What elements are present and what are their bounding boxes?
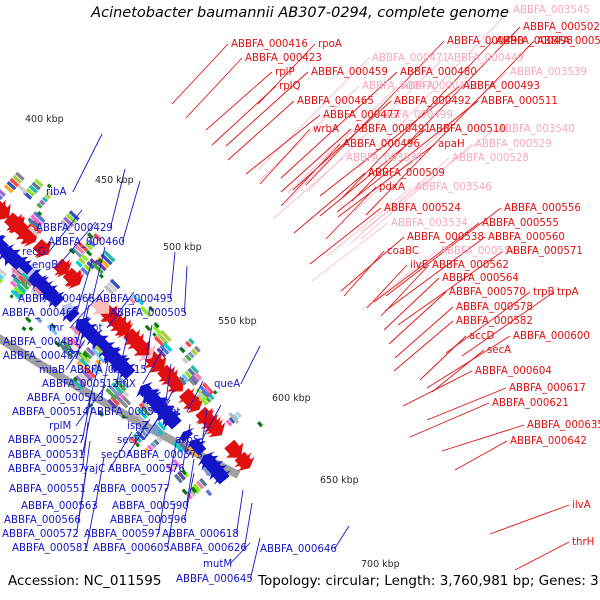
gene-label[interactable]: ABBFA_000481	[3, 337, 80, 348]
gene-label[interactable]: ABBFA_000471	[372, 53, 449, 64]
domain-box	[18, 185, 28, 195]
gene-label[interactable]: ABBFA_000460	[48, 237, 125, 248]
leader-line	[455, 441, 507, 470]
accession-text: Accession: NC_011595	[8, 573, 161, 589]
leader-line	[212, 86, 276, 145]
domain-box	[257, 421, 263, 427]
gene-label[interactable]: ABBFA_000512	[42, 379, 119, 390]
gene-label[interactable]: ABBFA_000505	[110, 308, 187, 319]
leader-line	[410, 403, 489, 437]
leader-line	[312, 223, 388, 281]
gene-label[interactable]: aspS	[175, 435, 199, 446]
scale-tick: 450 kbp	[95, 175, 134, 186]
gene-label[interactable]: hflX	[116, 379, 136, 390]
gene-label[interactable]: ABBFA_000600	[513, 331, 590, 342]
scale-tick: 400 kbp	[25, 114, 64, 125]
scale-tick-label: 700 kbp	[361, 559, 400, 570]
gene-label[interactable]: rplQ	[279, 81, 301, 92]
gene-label[interactable]: ABBFA_000465	[297, 96, 374, 107]
gene-label[interactable]: ABBFA_000537	[8, 464, 85, 475]
domain-box	[99, 274, 104, 279]
leader-line	[122, 181, 140, 242]
gene-label[interactable]: ABBFA_000493	[463, 81, 540, 92]
leader-line	[515, 542, 569, 570]
gene-label[interactable]: ABBFA_000577	[93, 484, 170, 495]
scale-tick: 650 kbp	[320, 475, 359, 486]
gene-label[interactable]: ABBFA_000560	[488, 232, 565, 243]
gene-label[interactable]: ABBFA_000477	[323, 110, 400, 121]
gene-label[interactable]: mutM	[203, 559, 232, 570]
scale-tick: 500 kbp	[163, 242, 202, 253]
gene-label[interactable]: ABBFA_000510	[429, 124, 506, 135]
gene-label[interactable]: ABBFA_000467	[2, 308, 79, 319]
gene-label[interactable]: ABBFA_000618	[162, 529, 239, 540]
gene-label[interactable]: ABBFA_000524	[384, 203, 461, 214]
gene-label[interactable]: accD	[469, 331, 494, 342]
gene-label[interactable]: ilvA	[572, 500, 591, 511]
gene-label[interactable]: ABBFA_003539	[510, 67, 587, 78]
leader-line	[294, 173, 365, 233]
gene-label[interactable]: ABBFA_000509	[368, 168, 445, 179]
gene-label[interactable]: ABBFA_000605	[93, 543, 170, 554]
gene-label[interactable]: ABBFA_000571	[506, 246, 583, 257]
gene-label[interactable]: rnr	[49, 323, 64, 334]
gene-label[interactable]: recG	[22, 247, 46, 258]
gene-label[interactable]: ABBFA_003540	[498, 124, 575, 135]
scale-tick-label: 550 kbp	[218, 316, 257, 327]
leader-line	[206, 72, 272, 130]
gene-label[interactable]: ABBFA_000491	[354, 124, 431, 135]
gene-label[interactable]: ABBFA_000590	[112, 501, 189, 512]
scale-tick: 600 kbp	[272, 393, 311, 404]
leader-line	[281, 144, 340, 206]
gene-label[interactable]: ABBFA_000564	[442, 273, 519, 284]
gene-label[interactable]: yajC	[83, 464, 105, 475]
gene-label[interactable]: ABBFA_003533	[346, 153, 423, 164]
scale-tick: 700 kbp	[361, 559, 400, 570]
leader-line	[367, 265, 407, 308]
gene-label[interactable]: ABBFA_000646	[260, 544, 337, 555]
gene-label[interactable]: rplP	[275, 67, 295, 78]
scale-tick-label: 450 kbp	[95, 175, 134, 186]
gene-label[interactable]: wrbA	[313, 124, 339, 135]
leader-line	[170, 252, 175, 299]
genome-diagram: 400 kbp450 kbp500 kbp550 kbp600 kbp650 k…	[0, 0, 600, 600]
gene-label[interactable]: ABBFA_000617	[509, 383, 586, 394]
gene-label[interactable]: ABBFA_000562	[432, 260, 509, 271]
scale-tick-label: 400 kbp	[25, 114, 64, 125]
gene-label[interactable]: ABBFA_000487	[3, 351, 80, 362]
gene-label[interactable]: apaH	[438, 139, 465, 150]
scale-tick-label: 650 kbp	[320, 475, 359, 486]
gene-label[interactable]: coaBC	[387, 246, 419, 257]
gene-label[interactable]: ABBFA_003545	[513, 5, 590, 16]
forward-gene-arrow	[224, 440, 243, 458]
gene-label[interactable]: thrH	[572, 537, 594, 548]
leader-line	[228, 101, 294, 160]
gene-label[interactable]: pdxA	[379, 182, 405, 193]
genome-stats-text: Topology: circular; Length: 3,760,981 bp…	[257, 573, 600, 589]
leader-line	[246, 115, 320, 174]
scale-tick: 550 kbp	[218, 316, 257, 327]
gene-label[interactable]: ABBFA_000466	[18, 294, 95, 305]
gene-label[interactable]: ABBFA_000555	[482, 218, 559, 229]
gene-label[interactable]: ABBFA_000502	[523, 22, 600, 33]
gene-label[interactable]: ABBFA_000576	[108, 464, 185, 475]
gene-label[interactable]: ABBFA_000514	[12, 407, 89, 418]
gene-label[interactable]: ABBFA_000570	[449, 287, 526, 298]
domain-box	[206, 489, 213, 496]
gene-label[interactable]: ispZ	[127, 421, 149, 432]
gene-label[interactable]: ABBFA_000551	[9, 484, 86, 495]
gene-label[interactable]: ABBFA_000572	[2, 529, 79, 540]
gene-label[interactable]: ABBFA_000581	[12, 543, 89, 554]
gene-label[interactable]: ABBFA_000582	[456, 316, 533, 327]
scale-tick-label: 500 kbp	[163, 242, 202, 253]
gene-label[interactable]: tgt	[166, 407, 180, 418]
gene-label[interactable]: ilvE	[410, 260, 428, 271]
gene-labels: 400 kbp450 kbp500 kbp550 kbp600 kbp650 k…	[2, 5, 600, 585]
gene-label[interactable]: ABBFA_000578	[456, 302, 533, 313]
gene-label[interactable]: rpoA	[318, 39, 342, 50]
gene-label[interactable]: ABBFA_000563	[21, 501, 98, 512]
page-title: Acinetobacter baumannii AB307-0294, comp…	[90, 5, 509, 21]
leader-line	[172, 44, 228, 104]
gene-label[interactable]: ABBFA_000511	[481, 96, 558, 107]
gene-label[interactable]: ABBFA_000621	[492, 398, 569, 409]
leader-line	[394, 321, 453, 371]
leader-line	[244, 503, 252, 548]
gene-label[interactable]: ribA	[46, 187, 66, 198]
gene-label[interactable]: ABBFA_000515	[70, 365, 147, 376]
gene-label[interactable]: ABBFA_000429	[36, 223, 113, 234]
gene-label[interactable]: ABBFA_000604	[475, 366, 552, 377]
gene-label[interactable]: engB	[32, 260, 58, 271]
leader-line	[186, 58, 242, 118]
gene-label[interactable]: ABBFA_000635	[527, 420, 600, 431]
gene-label[interactable]: ABBFA_000645	[176, 574, 253, 585]
gene-label[interactable]: ABBFA_003534	[391, 218, 468, 229]
gene-label[interactable]: trpB	[533, 287, 555, 298]
gene-label[interactable]: ABBFA_003546	[415, 182, 492, 193]
gene-label[interactable]: secD	[101, 450, 126, 461]
gene-label[interactable]: ABBFA_000596	[110, 515, 187, 526]
gene-label[interactable]: ABBFA_000416	[231, 39, 308, 50]
leader-line	[490, 505, 569, 534]
domain-box	[0, 187, 6, 197]
gene-label[interactable]: ABBFA_000626	[170, 543, 247, 554]
gene-label[interactable]: ABBFA_000531	[8, 450, 85, 461]
leader-line	[241, 346, 260, 384]
gene-label[interactable]: secF	[117, 435, 140, 446]
gene-label[interactable]: secA	[487, 345, 511, 356]
gene-label[interactable]: trpA	[557, 287, 579, 298]
genome-map-canvas: 400 kbp450 kbp500 kbp550 kbp600 kbp650 k…	[0, 0, 600, 600]
leader-line	[236, 490, 243, 534]
leader-line	[184, 473, 194, 520]
scale-tick-label: 600 kbp	[272, 393, 311, 404]
leader-line	[184, 266, 187, 313]
gene-label[interactable]: ABBFA_000642	[510, 436, 587, 447]
gene-label[interactable]: ABBFA_000513	[27, 393, 104, 404]
gene-label[interactable]: ABBFA_000459	[311, 67, 388, 78]
gene-label[interactable]: queA	[214, 379, 240, 390]
gene-label[interactable]: ABBFA_000566	[4, 515, 81, 526]
domain-box	[10, 294, 14, 298]
domain-box	[213, 390, 218, 395]
gene-label[interactable]: xpt	[86, 323, 103, 334]
gene-label[interactable]: ABBFA_000449	[447, 53, 524, 64]
leader-line	[344, 251, 384, 296]
gene-label[interactable]: ABBFA_000508	[537, 36, 600, 47]
gene-label[interactable]: ABBFA_000492	[394, 96, 471, 107]
leader-line	[389, 292, 446, 344]
gene-label[interactable]: miaB	[39, 365, 65, 376]
domain-box	[29, 326, 34, 331]
gene-label[interactable]: ABBFA_000556	[504, 203, 581, 214]
leader-line	[395, 307, 453, 358]
gene-label[interactable]: ABBFA_000529	[475, 139, 552, 150]
gene-label[interactable]: ABBFA_000528	[452, 153, 529, 164]
gene-label[interactable]: rplM	[49, 421, 71, 432]
gene-label[interactable]: ABBFA_000527	[8, 435, 85, 446]
domain-box	[145, 325, 152, 332]
gene-label[interactable]: ABBFA_000540	[90, 407, 167, 418]
gene-label[interactable]: ABBFA_000496	[343, 139, 420, 150]
leader-line	[403, 371, 472, 406]
gene-label[interactable]: ABBFA_000597	[84, 529, 161, 540]
gene-label[interactable]: ABBFA_000495	[96, 294, 173, 305]
gene-label[interactable]: ABBFA_000480	[400, 67, 477, 78]
gene-label[interactable]: ABBFA_000575	[126, 450, 203, 461]
gene-label[interactable]: ABBFA_000538	[407, 232, 484, 243]
domain-box	[21, 326, 26, 331]
gene-label[interactable]: ABBFA_000423	[245, 53, 322, 64]
